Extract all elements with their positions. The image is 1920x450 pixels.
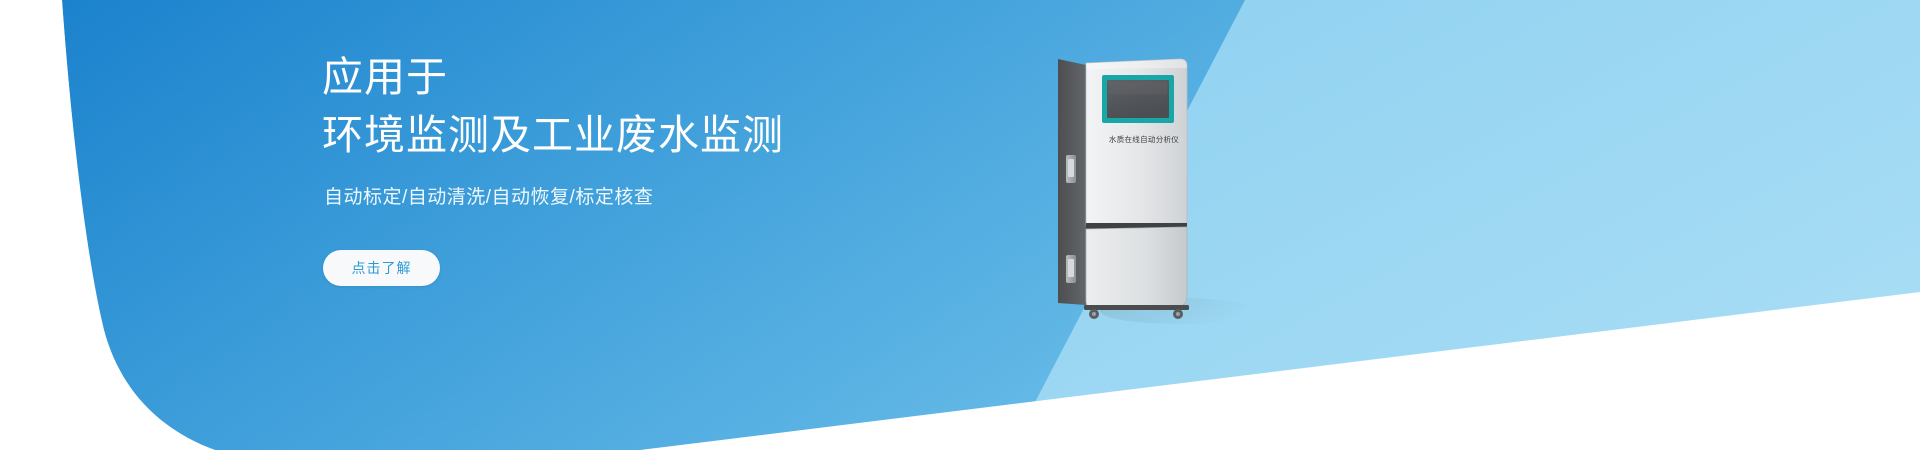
water-quality-analyzer-illustration (1050, 55, 1250, 355)
caster-right-hub (1176, 312, 1180, 316)
screen-glare (1109, 82, 1167, 94)
side-gauge-lower-inner (1068, 259, 1074, 277)
caster-left-hub (1092, 312, 1096, 316)
side-gauge-upper-inner (1068, 159, 1074, 177)
headline-line-2: 环境监测及工业废水监测 (322, 106, 784, 164)
banner-content: 应用于 环境监测及工业废水监测 自动标定/自动清洗/自动恢复/标定核查 点击了解 (322, 0, 1082, 450)
promo-banner: 应用于 环境监测及工业废水监测 自动标定/自动清洗/自动恢复/标定核查 点击了解 (0, 0, 1920, 450)
product-image: 水质在线自动分析仪 (1050, 55, 1250, 355)
banner-subtitle: 自动标定/自动清洗/自动恢复/标定核查 (324, 184, 653, 212)
headline-line-1: 应用于 (322, 48, 784, 106)
device-base-rail (1084, 305, 1189, 310)
learn-more-button[interactable]: 点击了解 (323, 250, 440, 286)
page-title: 应用于 环境监测及工业废水监测 (322, 48, 784, 164)
device-lower-cabinet (1086, 227, 1187, 308)
